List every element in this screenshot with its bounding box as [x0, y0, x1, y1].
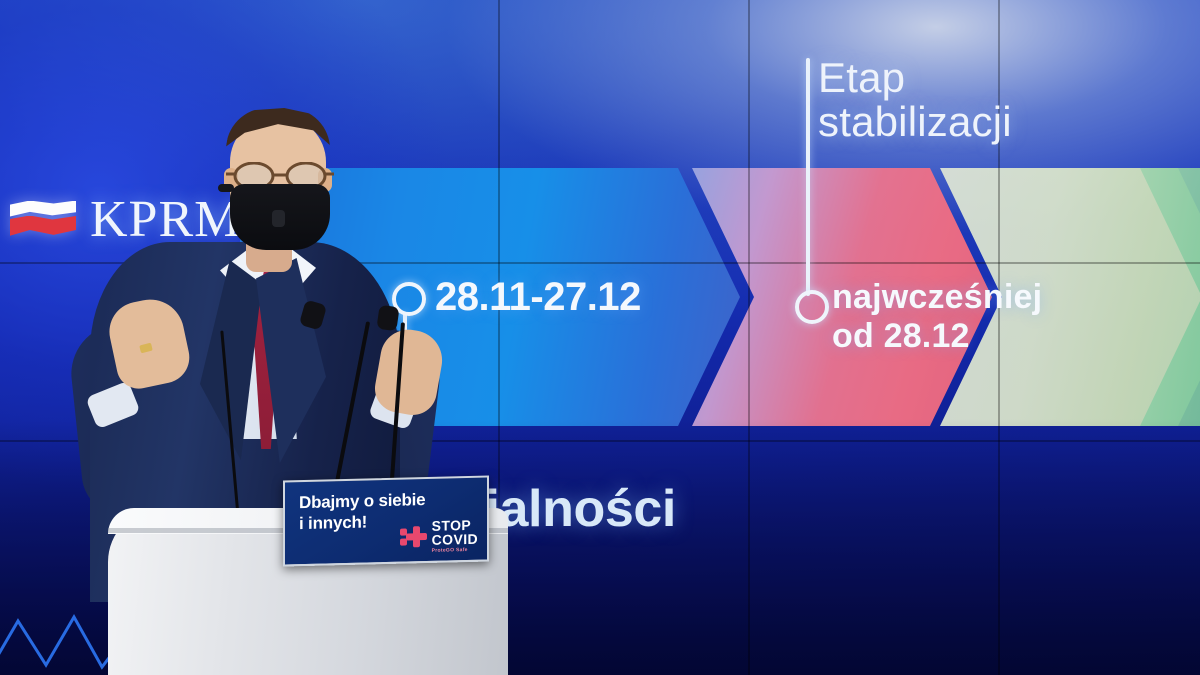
timeline-marker-stem [806, 58, 810, 296]
podium-sign: Dbajmy o siebie i innych! STOP COVID Pro… [283, 475, 489, 566]
stop-covid-logo: STOP COVID ProteGO Safe [406, 518, 478, 555]
press-conference-photo: Etap stabilizacji 28.11-27.12 najwcześni… [0, 0, 1200, 675]
timeline-marker-right [795, 290, 829, 324]
stage-heading: Etap stabilizacji [818, 56, 1012, 143]
date-range-label: 28.11-27.12 [435, 275, 641, 320]
logo-word-covid: COVID [432, 532, 478, 547]
earliest-date-label: najwcześniej od 28.12 [832, 278, 1042, 356]
panel-seam-vertical [748, 0, 750, 675]
podium-sign-line1: Dbajmy o siebie [299, 489, 425, 513]
medical-cross-icon [406, 526, 427, 548]
microphone-head [376, 305, 399, 332]
logo-subtitle: ProteGO Safe [432, 548, 478, 554]
